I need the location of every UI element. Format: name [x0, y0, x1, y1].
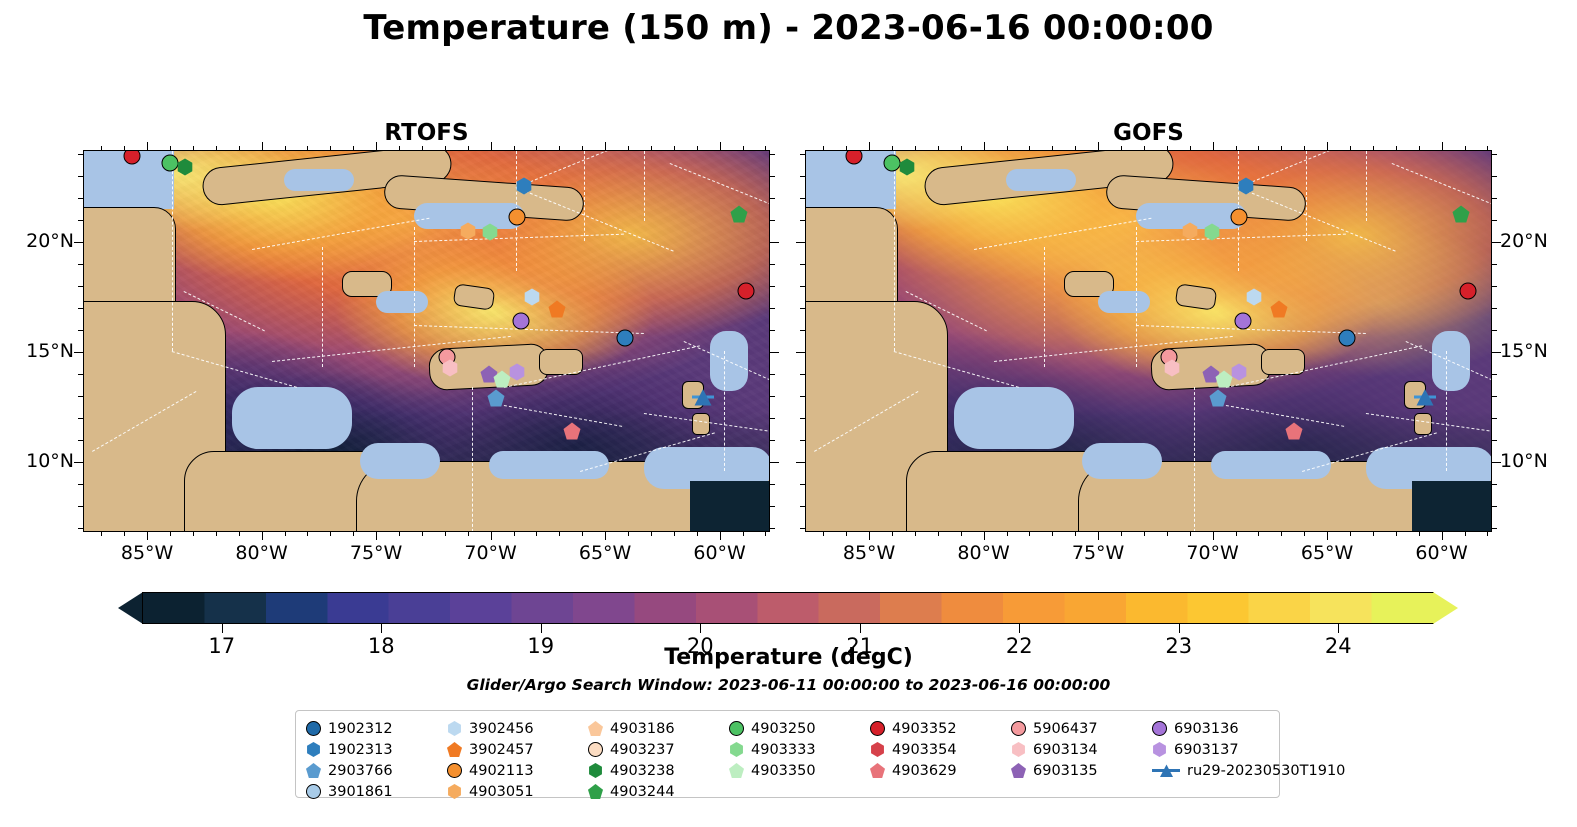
y-axis-tick-gofs: [1492, 440, 1497, 441]
y-axis-tick-rtofs: [78, 198, 83, 199]
x-axis-tick-gofs: [892, 146, 893, 150]
y-axis-tick-rtofs: [770, 484, 775, 485]
x-axis-tick-rtofs: [399, 146, 400, 150]
x-axis-tick-rtofs: [262, 142, 263, 150]
legend-column: 1902312190231329037663901861: [306, 718, 447, 802]
legend-item-4903186[interactable]: 4903186: [588, 718, 729, 739]
x-axis-tick-rtofs: [193, 532, 194, 536]
x-axis-tick-gofs: [869, 532, 870, 540]
hex-marker-icon: [447, 784, 462, 799]
y-axis-tick-rtofs: [74, 462, 83, 463]
colorbar-tick: [1019, 624, 1020, 633]
x-axis-tick-gofs: [823, 146, 824, 150]
x-axis-tick-rtofs: [628, 532, 629, 536]
x-axis-tick-rtofs: [239, 532, 240, 536]
legend-item-label: 6903135: [1033, 763, 1098, 779]
x-axis-label-rtofs: 70°W: [446, 542, 536, 564]
x-axis-label-gofs: 60°W: [1397, 542, 1487, 564]
x-axis-tick-rtofs: [285, 532, 286, 536]
x-axis-tick-gofs: [1007, 146, 1008, 150]
x-axis-tick-gofs: [1213, 532, 1214, 540]
y-axis-tick-gofs: [1492, 286, 1497, 287]
x-axis-tick-rtofs: [559, 146, 560, 150]
x-axis-tick-gofs: [1167, 146, 1168, 150]
y-axis-tick-rtofs: [770, 462, 779, 463]
y-axis-tick-gofs: [800, 506, 805, 507]
x-axis-tick-gofs: [823, 532, 824, 536]
map-marker-6903136[interactable]: [513, 313, 530, 330]
x-axis-tick-rtofs: [674, 146, 675, 150]
y-axis-tick-gofs: [1492, 308, 1497, 309]
legend-item-label: 4903186: [610, 721, 675, 737]
y-axis-tick-gofs: [800, 264, 805, 265]
x-axis-label-gofs: 70°W: [1168, 542, 1258, 564]
x-axis-tick-rtofs: [743, 532, 744, 536]
y-axis-tick-gofs: [800, 308, 805, 309]
y-axis-label-left: 10°N: [0, 450, 74, 472]
legend-item-label: 4903238: [610, 763, 675, 779]
map-marker-4903352[interactable]: [124, 150, 141, 165]
x-axis-tick-rtofs: [765, 532, 766, 536]
legend-item-5906437[interactable]: 5906437: [1011, 718, 1152, 739]
legend-column: 490325049033334903350: [729, 718, 870, 802]
y-axis-tick-gofs: [800, 440, 805, 441]
map-marker-1902313[interactable]: [1238, 178, 1255, 195]
x-axis-tick-gofs: [984, 532, 985, 540]
y-axis-tick-gofs: [800, 154, 805, 155]
map-marker-4903629[interactable]: [1286, 423, 1303, 440]
colorbar-tick: [700, 624, 701, 633]
x-axis-tick-gofs: [938, 146, 939, 150]
x-axis-tick-gofs: [1098, 142, 1099, 150]
x-axis-tick-gofs: [1121, 146, 1122, 150]
x-axis-tick-rtofs: [582, 146, 583, 150]
legend-item-label: 2903766: [328, 763, 393, 779]
map-marker-4903244[interactable]: [731, 206, 748, 223]
x-axis-tick-gofs: [1236, 532, 1237, 536]
legend-item-label: 4903629: [892, 763, 957, 779]
map-marker-4903238[interactable]: [899, 159, 916, 176]
legend-item-label: 4903352: [892, 721, 957, 737]
circle-marker-icon: [870, 721, 885, 736]
legend-item-4902113[interactable]: 4902113: [447, 760, 588, 781]
y-axis-tick-rtofs: [770, 506, 775, 507]
circle-marker-icon: [447, 763, 462, 778]
x-axis-tick-gofs: [984, 142, 985, 150]
colorbar-tick: [860, 624, 861, 633]
colorbar-tick: [381, 624, 382, 633]
map-marker-2903766[interactable]: [1210, 390, 1227, 407]
legend-item-label: 4903354: [892, 742, 957, 758]
map-marker-4903051[interactable]: [1182, 223, 1199, 240]
legend-item-6903137[interactable]: 6903137: [1152, 739, 1352, 760]
y-axis-tick-gofs: [1492, 264, 1497, 265]
y-axis-tick-rtofs: [770, 220, 775, 221]
pent-marker-icon: [1011, 763, 1026, 778]
y-axis-tick-gofs: [800, 484, 805, 485]
x-axis-tick-rtofs: [353, 532, 354, 536]
legend-item-6903134[interactable]: 6903134: [1011, 739, 1152, 760]
x-axis-tick-gofs: [1350, 146, 1351, 150]
legend-item-ru29-20230530T1910[interactable]: ru29-20230530T1910: [1152, 760, 1352, 781]
x-axis-tick-gofs: [1213, 142, 1214, 150]
legend-item-label: 1902313: [328, 742, 393, 758]
x-axis-tick-gofs: [1167, 532, 1168, 536]
platform-legend[interactable]: 1902312190231329037663901861390245639024…: [295, 710, 1280, 798]
map-marker-3902456[interactable]: [524, 289, 541, 306]
x-axis-tick-rtofs: [101, 146, 102, 150]
map-marker-4903051[interactable]: [460, 223, 477, 240]
hex-marker-icon: [729, 742, 744, 757]
map-marker-3902456[interactable]: [1246, 289, 1263, 306]
x-axis-tick-rtofs: [468, 532, 469, 536]
circle-marker-icon: [1152, 721, 1167, 736]
x-axis-tick-rtofs: [628, 146, 629, 150]
pent-marker-icon: [729, 763, 744, 778]
x-axis-tick-gofs: [1419, 532, 1420, 536]
map-marker-4903238[interactable]: [177, 159, 194, 176]
legend-item-label: 4903237: [610, 742, 675, 758]
legend-item-label: 1902312: [328, 721, 393, 737]
x-axis-label-gofs: 75°W: [1053, 542, 1143, 564]
page-title: Temperature (150 m) - 2023-06-16 00:00:0…: [0, 8, 1577, 48]
legend-item-label: 5906437: [1033, 721, 1098, 737]
legend-item-4903238[interactable]: 4903238: [588, 760, 729, 781]
map-marker-6903134[interactable]: [442, 360, 459, 377]
map-marker-4903333[interactable]: [482, 224, 499, 241]
x-axis-tick-gofs: [1052, 146, 1053, 150]
legend-item-4903237[interactable]: 4903237: [588, 739, 729, 760]
x-axis-tick-rtofs: [697, 146, 698, 150]
y-axis-label-right: 20°N: [1500, 230, 1577, 252]
y-axis-tick-gofs: [1492, 528, 1497, 529]
y-axis-tick-rtofs: [770, 330, 775, 331]
pent-marker-icon: [870, 763, 885, 778]
pent-marker-icon: [447, 742, 462, 757]
x-axis-tick-gofs: [1487, 532, 1488, 536]
x-axis-tick-gofs: [915, 146, 916, 150]
x-axis-tick-rtofs: [697, 532, 698, 536]
y-axis-tick-rtofs: [78, 308, 83, 309]
x-axis-tick-gofs: [1144, 532, 1145, 536]
map-marker-3902457[interactable]: [1271, 301, 1288, 318]
figure-canvas: Temperature (150 m) - 2023-06-16 00:00:0…: [0, 0, 1577, 827]
circle-marker-icon: [1011, 721, 1026, 736]
x-axis-tick-gofs: [1465, 146, 1466, 150]
y-axis-tick-gofs: [796, 242, 805, 243]
y-axis-tick-gofs: [800, 220, 805, 221]
y-axis-tick-rtofs: [78, 418, 83, 419]
y-axis-tick-gofs: [796, 462, 805, 463]
y-axis-tick-rtofs: [770, 154, 775, 155]
hex-marker-icon: [870, 742, 885, 757]
legend-column: 69031366903137ru29-20230530T1910: [1152, 718, 1352, 802]
legend-item-4903629[interactable]: 4903629: [870, 760, 1011, 781]
x-axis-tick-gofs: [1419, 146, 1420, 150]
circle-marker-icon: [306, 784, 321, 799]
y-axis-tick-rtofs: [74, 352, 83, 353]
y-axis-tick-rtofs: [770, 396, 775, 397]
legend-item-6903136[interactable]: 6903136: [1152, 718, 1352, 739]
circle-marker-icon: [729, 721, 744, 736]
legend-item-4903350[interactable]: 4903350: [729, 760, 870, 781]
x-axis-tick-gofs: [1281, 146, 1282, 150]
x-axis-tick-gofs: [1327, 142, 1328, 150]
legend-column: 590643769031346903135: [1011, 718, 1152, 802]
hex-marker-icon: [306, 742, 321, 757]
map-marker-ru29-20230530T1910[interactable]: [1417, 389, 1434, 406]
x-axis-tick-gofs: [1121, 532, 1122, 536]
x-axis-tick-rtofs: [216, 146, 217, 150]
legend-item-4903352[interactable]: 4903352: [870, 718, 1011, 739]
x-axis-tick-gofs: [1190, 532, 1191, 536]
x-axis-tick-rtofs: [330, 146, 331, 150]
y-axis-tick-rtofs: [78, 396, 83, 397]
map-marker-6903137[interactable]: [1231, 364, 1248, 381]
legend-item-3901861[interactable]: 3901861: [306, 781, 447, 802]
x-axis-tick-rtofs: [720, 532, 721, 540]
map-marker-1902312[interactable]: [1339, 330, 1356, 347]
map-marker-ru29-20230530T1910[interactable]: [695, 389, 712, 406]
x-axis-tick-rtofs: [765, 146, 766, 150]
x-axis-tick-gofs: [1396, 146, 1397, 150]
x-axis-tick-rtofs: [422, 532, 423, 536]
x-axis-tick-gofs: [1442, 142, 1443, 150]
x-axis-tick-gofs: [1327, 532, 1328, 540]
map-marker-6903137[interactable]: [509, 364, 526, 381]
circle-marker-icon: [588, 742, 603, 757]
legend-item-4903250[interactable]: 4903250: [729, 718, 870, 739]
legend-item-3902456[interactable]: 3902456: [447, 718, 588, 739]
x-axis-tick-rtofs: [743, 146, 744, 150]
y-axis-tick-rtofs: [770, 242, 779, 243]
x-axis-tick-rtofs: [445, 146, 446, 150]
y-axis-tick-gofs: [800, 176, 805, 177]
x-axis-tick-rtofs: [239, 146, 240, 150]
x-axis-tick-gofs: [915, 532, 916, 536]
legend-item-4903333[interactable]: 4903333: [729, 739, 870, 760]
map-marker-4903352[interactable]: [1460, 283, 1477, 300]
y-axis-tick-gofs: [800, 330, 805, 331]
colorbar-tick: [541, 624, 542, 633]
glider-track-icon: [1152, 763, 1180, 778]
x-axis-tick-gofs: [1029, 532, 1030, 536]
y-axis-tick-gofs: [1492, 484, 1497, 485]
x-axis-tick-rtofs: [147, 142, 148, 150]
x-axis-tick-gofs: [1236, 146, 1237, 150]
x-axis-tick-rtofs: [514, 532, 515, 536]
y-axis-tick-rtofs: [78, 484, 83, 485]
x-axis-tick-rtofs: [216, 532, 217, 536]
legend-item-4903051[interactable]: 4903051: [447, 781, 588, 802]
y-axis-tick-rtofs: [78, 154, 83, 155]
map-marker-3902457[interactable]: [549, 301, 566, 318]
map-marker-4903244[interactable]: [1453, 206, 1470, 223]
map-marker-2903766[interactable]: [488, 390, 505, 407]
legend-item-label: 4903244: [610, 784, 675, 800]
legend-item-label: 3901861: [328, 784, 393, 800]
x-axis-tick-rtofs: [124, 532, 125, 536]
x-axis-tick-rtofs: [559, 532, 560, 536]
map-marker-1902312[interactable]: [617, 330, 634, 347]
hex-marker-icon: [1011, 742, 1026, 757]
y-axis-tick-gofs: [1492, 418, 1497, 419]
y-axis-tick-gofs: [800, 396, 805, 397]
x-axis-tick-gofs: [846, 532, 847, 536]
y-axis-tick-gofs: [800, 374, 805, 375]
x-axis-tick-gofs: [1465, 532, 1466, 536]
x-axis-tick-gofs: [1373, 532, 1374, 536]
x-axis-label-rtofs: 75°W: [331, 542, 421, 564]
x-axis-tick-rtofs: [285, 146, 286, 150]
x-axis-label-rtofs: 65°W: [560, 542, 650, 564]
map-marker-4903352[interactable]: [846, 150, 863, 165]
legend-item-label: 4903350: [751, 763, 816, 779]
x-axis-tick-rtofs: [720, 142, 721, 150]
x-axis-tick-gofs: [1487, 146, 1488, 150]
y-axis-tick-rtofs: [78, 440, 83, 441]
x-axis-tick-gofs: [892, 532, 893, 536]
x-axis-tick-rtofs: [353, 146, 354, 150]
x-axis-tick-rtofs: [651, 146, 652, 150]
x-axis-label-rtofs: 85°W: [102, 542, 192, 564]
y-axis-tick-rtofs: [770, 308, 775, 309]
legend-item-label: 6903136: [1174, 721, 1239, 737]
x-axis-tick-gofs: [1029, 146, 1030, 150]
x-axis-tick-gofs: [846, 146, 847, 150]
colorbar-axis-label: Temperature (degC): [0, 645, 1577, 670]
panel-title-rtofs: RTOFS: [83, 120, 770, 146]
x-axis-tick-rtofs: [536, 146, 537, 150]
x-axis-tick-gofs: [1007, 532, 1008, 536]
x-axis-tick-rtofs: [307, 146, 308, 150]
y-axis-tick-gofs: [796, 352, 805, 353]
map-marker-4903333[interactable]: [1204, 224, 1221, 241]
y-axis-tick-gofs: [800, 418, 805, 419]
x-axis-label-rtofs: 80°W: [217, 542, 307, 564]
map-marker-4903629[interactable]: [564, 423, 581, 440]
y-axis-tick-rtofs: [78, 286, 83, 287]
panel-title-gofs: GOFS: [805, 120, 1492, 146]
x-axis-tick-rtofs: [582, 532, 583, 536]
x-axis-tick-gofs: [1075, 532, 1076, 536]
y-axis-label-left: 15°N: [0, 340, 74, 362]
x-axis-tick-gofs: [1281, 532, 1282, 536]
y-axis-tick-gofs: [1492, 330, 1497, 331]
y-axis-tick-gofs: [1492, 198, 1497, 199]
x-axis-tick-rtofs: [445, 532, 446, 536]
legend-item-1902313[interactable]: 1902313: [306, 739, 447, 760]
colorbar-gradient: [142, 592, 1434, 624]
legend-item-2903766[interactable]: 2903766: [306, 760, 447, 781]
colorbar[interactable]: 1718192021222324: [118, 592, 1458, 624]
x-axis-tick-gofs: [1190, 146, 1191, 150]
x-axis-tick-rtofs: [491, 142, 492, 150]
y-axis-tick-rtofs: [770, 176, 775, 177]
x-axis-tick-gofs: [1052, 532, 1053, 536]
x-axis-tick-rtofs: [330, 532, 331, 536]
x-axis-tick-rtofs: [536, 532, 537, 536]
map-panel-gofs[interactable]: [805, 150, 1492, 532]
x-axis-tick-gofs: [1304, 146, 1305, 150]
x-axis-tick-gofs: [1258, 146, 1259, 150]
legend-item-1902312[interactable]: 1902312: [306, 718, 447, 739]
map-marker-6903134[interactable]: [1164, 360, 1181, 377]
x-axis-tick-gofs: [938, 532, 939, 536]
x-axis-tick-rtofs: [147, 532, 148, 540]
legend-column: 3902456390245749021134903051: [447, 718, 588, 802]
y-axis-tick-rtofs: [78, 374, 83, 375]
y-axis-tick-rtofs: [78, 220, 83, 221]
y-axis-tick-rtofs: [770, 418, 775, 419]
x-axis-label-gofs: 85°W: [824, 542, 914, 564]
y-axis-tick-gofs: [1492, 154, 1497, 155]
y-axis-tick-gofs: [1492, 396, 1497, 397]
hex-marker-icon: [1152, 742, 1167, 757]
x-axis-label-gofs: 65°W: [1282, 542, 1372, 564]
y-axis-tick-gofs: [800, 286, 805, 287]
y-axis-tick-rtofs: [78, 528, 83, 529]
legend-item-4903354[interactable]: 4903354: [870, 739, 1011, 760]
x-axis-tick-rtofs: [376, 532, 377, 540]
x-axis-tick-gofs: [961, 532, 962, 536]
pent-marker-icon: [588, 721, 603, 736]
map-marker-6903136[interactable]: [1235, 313, 1252, 330]
legend-item-label: 4903333: [751, 742, 816, 758]
x-axis-label-gofs: 80°W: [939, 542, 1029, 564]
map-panel-rtofs[interactable]: [83, 150, 770, 532]
map-marker-1902313[interactable]: [516, 178, 533, 195]
y-axis-tick-gofs: [1492, 176, 1497, 177]
y-axis-tick-rtofs: [770, 352, 779, 353]
x-axis-tick-rtofs: [307, 532, 308, 536]
circle-marker-icon: [306, 721, 321, 736]
x-axis-tick-rtofs: [605, 532, 606, 540]
x-axis-tick-gofs: [1258, 532, 1259, 536]
x-axis-tick-rtofs: [605, 142, 606, 150]
x-axis-tick-gofs: [1098, 532, 1099, 540]
map-marker-4902113[interactable]: [509, 209, 526, 226]
x-axis-tick-gofs: [1350, 532, 1351, 536]
x-axis-tick-rtofs: [651, 532, 652, 536]
y-axis-tick-rtofs: [770, 440, 775, 441]
legend-item-label: 3902457: [469, 742, 534, 758]
hex-marker-icon: [447, 721, 462, 736]
x-axis-tick-rtofs: [491, 532, 492, 540]
legend-item-label: 4903051: [469, 784, 534, 800]
legend-item-label: 4903250: [751, 721, 816, 737]
x-axis-tick-gofs: [1442, 532, 1443, 540]
pent-marker-icon: [306, 763, 321, 778]
map-marker-4902113[interactable]: [1231, 209, 1248, 226]
map-marker-4903352[interactable]: [738, 283, 755, 300]
colorbar-over-arrow: [1433, 592, 1458, 624]
colorbar-under-arrow: [118, 592, 143, 624]
y-axis-tick-rtofs: [78, 506, 83, 507]
legend-item-3902457[interactable]: 3902457: [447, 739, 588, 760]
y-axis-tick-gofs: [1492, 506, 1497, 507]
y-axis-tick-gofs: [800, 528, 805, 529]
legend-item-label: 4902113: [469, 763, 534, 779]
legend-item-label: ru29-20230530T1910: [1187, 763, 1345, 779]
legend-item-4903244[interactable]: 4903244: [588, 781, 729, 802]
x-axis-tick-rtofs: [422, 146, 423, 150]
x-axis-tick-rtofs: [170, 532, 171, 536]
y-axis-tick-rtofs: [78, 176, 83, 177]
x-axis-tick-rtofs: [193, 146, 194, 150]
legend-item-6903135[interactable]: 6903135: [1011, 760, 1152, 781]
x-axis-label-rtofs: 60°W: [675, 542, 765, 564]
